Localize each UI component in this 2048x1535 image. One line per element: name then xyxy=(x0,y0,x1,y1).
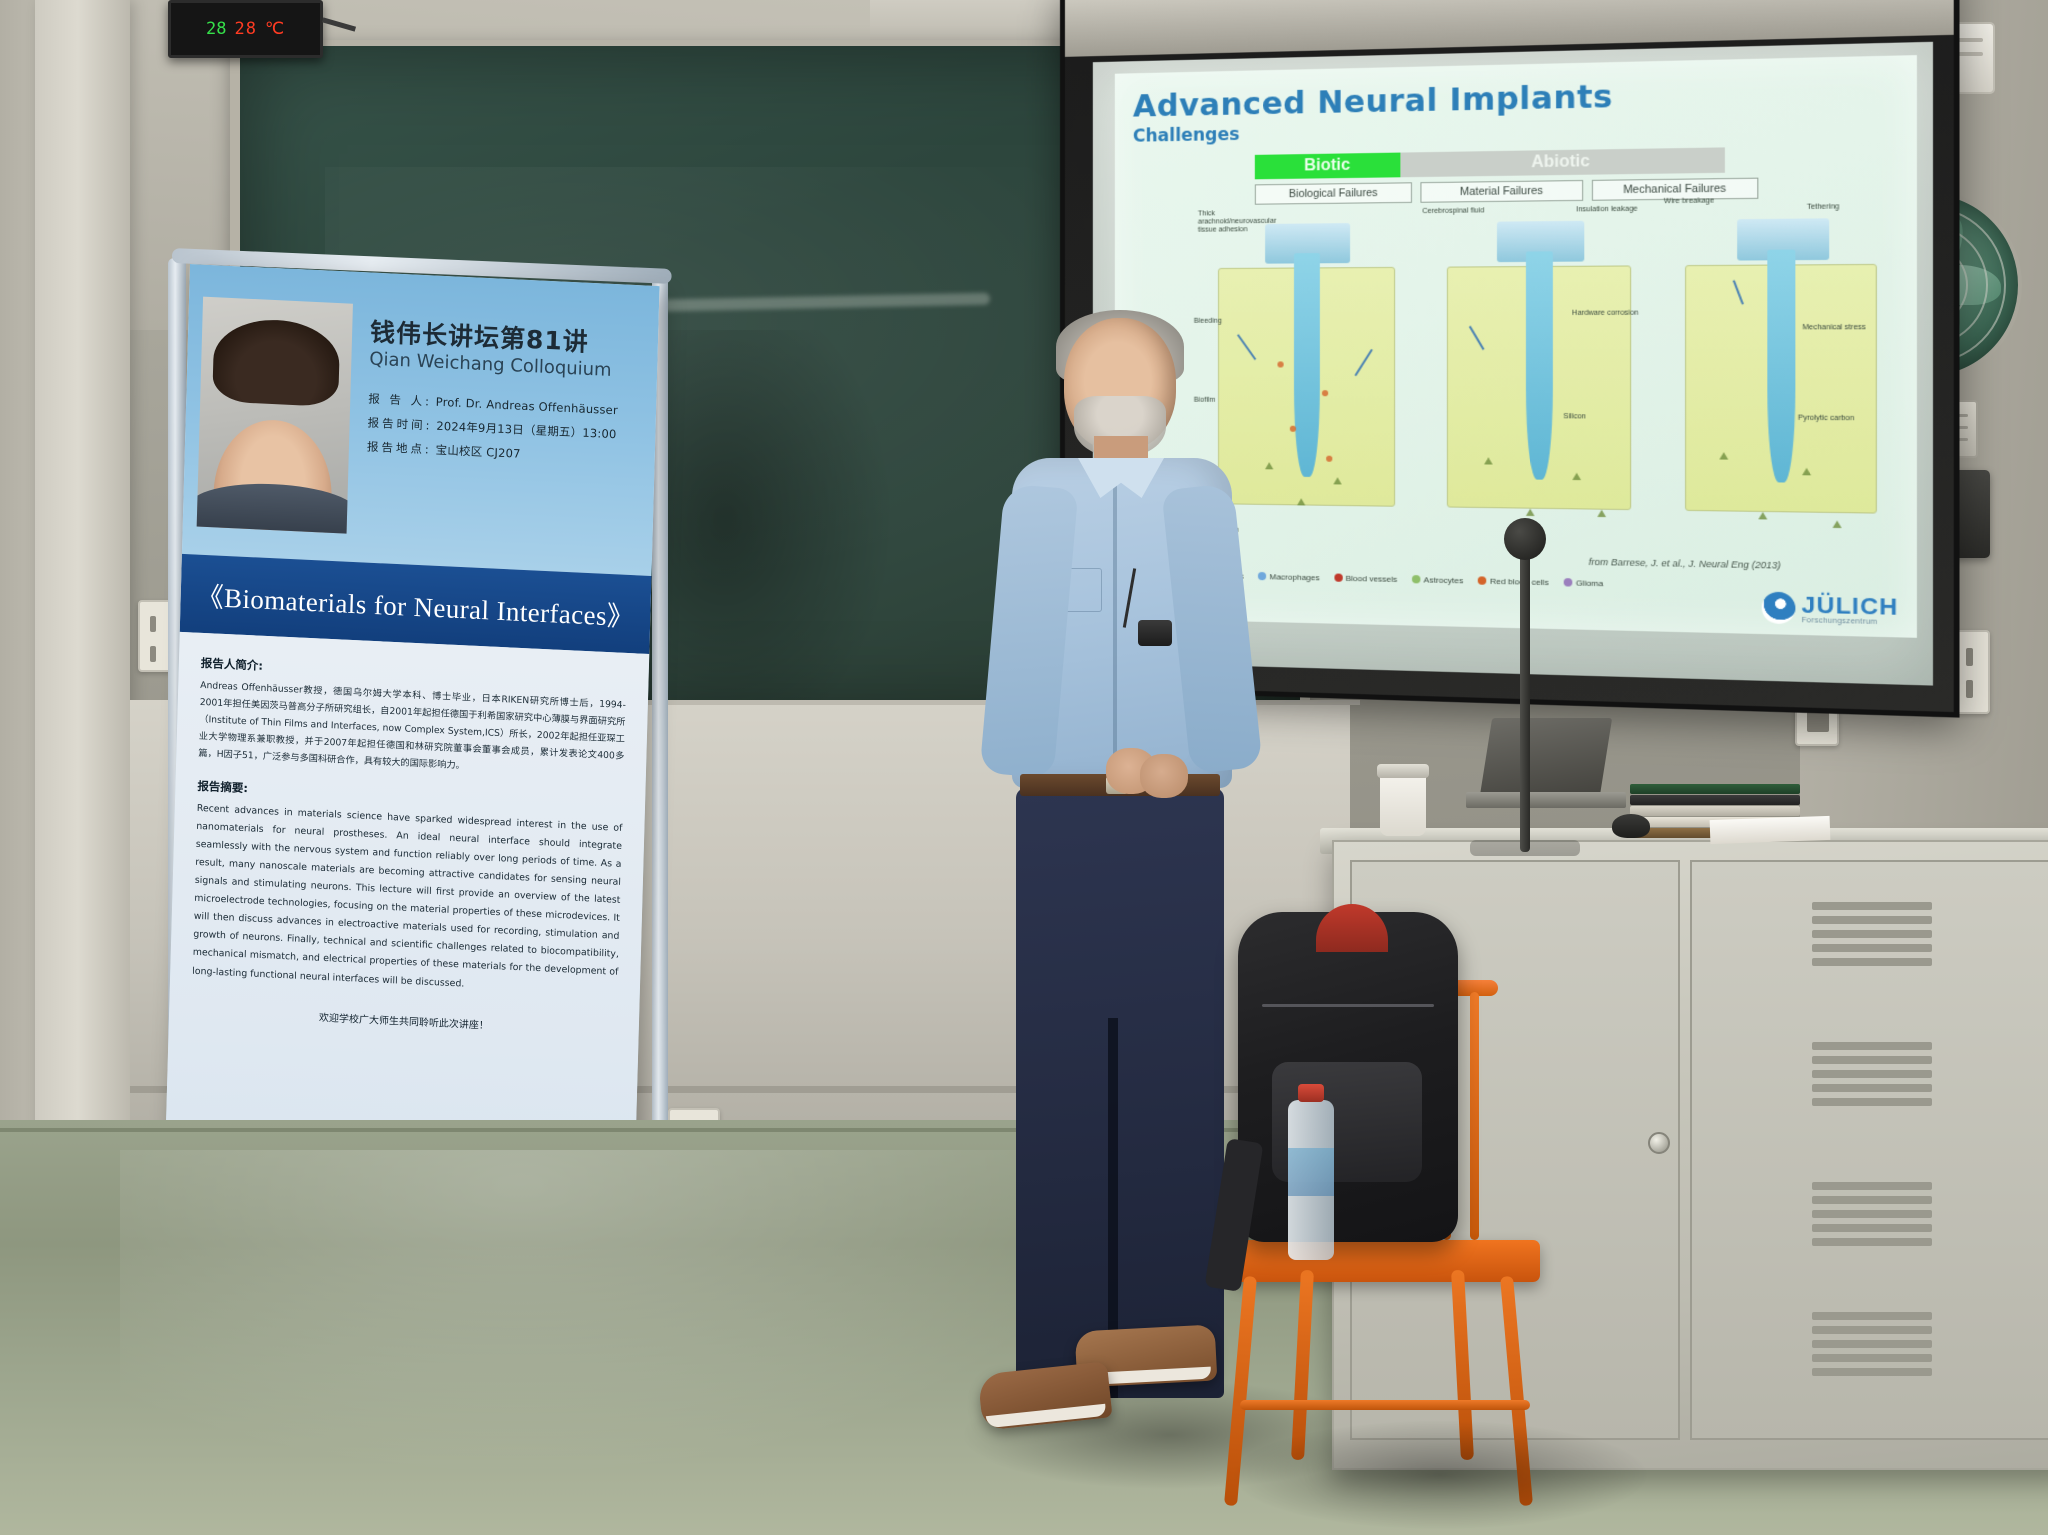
backpack-zipper xyxy=(1262,1004,1434,1007)
poster-abstract-text: Recent advances in materials science hav… xyxy=(192,800,623,1000)
electrode-shaft xyxy=(1767,249,1795,483)
diagram-label: Tethering xyxy=(1807,203,1840,212)
diagram-label: Thick arachnoid/neurovascular tissue adh… xyxy=(1198,210,1270,235)
legend-item: Macrophages xyxy=(1258,571,1319,581)
clip-on-microphone xyxy=(1138,620,1172,646)
backpack-top-handle xyxy=(1316,904,1388,952)
gooseneck-microphone xyxy=(1520,542,1530,852)
meta-location: 报告地点: 宝山校区 CJ207 xyxy=(367,439,649,468)
meta-speaker: 报 告 人: Prof. Dr. Andreas Offenhäusser xyxy=(368,391,650,420)
diagram-label: Mechanical stress xyxy=(1802,324,1865,333)
poster-welcome-line: 欢迎学校广大师生共同聆听此次讲座！ xyxy=(191,1002,617,1037)
backpack[interactable] xyxy=(1238,912,1458,1242)
speaker-portrait xyxy=(197,297,353,534)
chair-rung xyxy=(1240,1400,1530,1410)
meta-time-value: 2024年9月13日（星期五）13:00 xyxy=(436,419,617,441)
coffee-cup[interactable] xyxy=(1380,770,1426,836)
bottle-cap xyxy=(1298,1084,1324,1102)
paper-sheet xyxy=(1710,816,1831,844)
diagram-label: Silicon xyxy=(1564,413,1586,422)
category-biotic: Biotic xyxy=(1255,153,1401,180)
diagram-label: Hardware corrosion xyxy=(1572,310,1639,319)
meta-location-value: 宝山校区 CJ207 xyxy=(435,443,520,461)
poster-header: 钱伟长讲坛第81讲 Qian Weichang Colloquium 报 告 人… xyxy=(182,264,660,576)
portrait-hair xyxy=(212,317,340,407)
meta-speaker-value: Prof. Dr. Andreas Offenhäusser xyxy=(436,395,618,418)
laptop[interactable] xyxy=(1466,718,1616,822)
clock-green-digits: 28 xyxy=(206,19,226,39)
meta-time: 报告时间: 2024年9月13日（星期五）13:00 xyxy=(367,415,649,444)
computer-mouse[interactable] xyxy=(1612,814,1650,838)
laptop-keyboard[interactable] xyxy=(1466,792,1626,808)
diagram-label: Cerebrospinal fluid xyxy=(1422,207,1484,216)
diagram-label: Wire breakage xyxy=(1664,197,1714,206)
category-abiotic: Abiotic xyxy=(1400,147,1725,177)
water-bottle[interactable] xyxy=(1288,1100,1334,1260)
digital-clock-display: 28 28 ℃ xyxy=(168,0,323,58)
chair-floor-shadow xyxy=(1230,1420,1650,1530)
legend-item: Blood vessels xyxy=(1334,573,1397,584)
cup-lid xyxy=(1377,764,1429,778)
chair-seat xyxy=(1230,1240,1540,1282)
legend-item: Red blood cells xyxy=(1478,576,1549,587)
diagram-column-mechanical: Wire breakage Tethering Mechanical stres… xyxy=(1672,195,1890,575)
diagram-label: Pyrolytic carbon xyxy=(1798,415,1854,424)
poster-bio-text: Andreas Offenhäusser教授，德国乌尔姆大学本科、博士毕业，日本… xyxy=(198,677,626,782)
meta-speaker-key: 报 告 人: xyxy=(368,392,432,409)
poster-meta-list: 报 告 人: Prof. Dr. Andreas Offenhäusser 报告… xyxy=(367,391,651,476)
clock-temperature-unit: ℃ xyxy=(265,19,285,39)
meta-location-key: 报告地点: xyxy=(367,440,432,457)
presenter-trousers xyxy=(1016,788,1224,1398)
juelich-logo-name: JÜLICH xyxy=(1802,593,1899,619)
diagram-column-material: Cerebrospinal fluid Insulation leakage H… xyxy=(1434,198,1643,570)
cabinet-door-right[interactable] xyxy=(1690,860,2048,1440)
poster-lecture-title: 《Biomaterials for Neural Interfaces》 xyxy=(196,574,635,634)
electrode-shaft xyxy=(1293,253,1319,477)
juelich-logo: JÜLICH Forschungszentrum xyxy=(1761,592,1898,627)
slide-category-row: Biotic Abiotic xyxy=(1255,147,1725,179)
cabinet-knob-left[interactable] xyxy=(1648,1132,1670,1154)
wall-pillar xyxy=(35,0,130,1210)
laptop-screen xyxy=(1480,718,1612,796)
legend-item: Glioma xyxy=(1564,578,1603,588)
slide-diagram: Thick arachnoid/neurovascular tissue adh… xyxy=(1206,195,1906,575)
juelich-swirl-icon xyxy=(1756,588,1799,628)
electrode-shaft xyxy=(1526,251,1553,480)
clock-temperature: 28 xyxy=(234,19,256,39)
diagram-label: Insulation leakage xyxy=(1576,206,1638,215)
podium-items xyxy=(1380,760,1900,850)
meta-time-key: 报告时间: xyxy=(367,416,432,433)
bottle-label xyxy=(1288,1148,1334,1196)
legend-item: Astrocytes xyxy=(1412,575,1463,585)
lecture-hall-scene: 28 28 ℃ xyxy=(0,0,2048,1535)
presenter-hand-right xyxy=(1140,754,1188,798)
